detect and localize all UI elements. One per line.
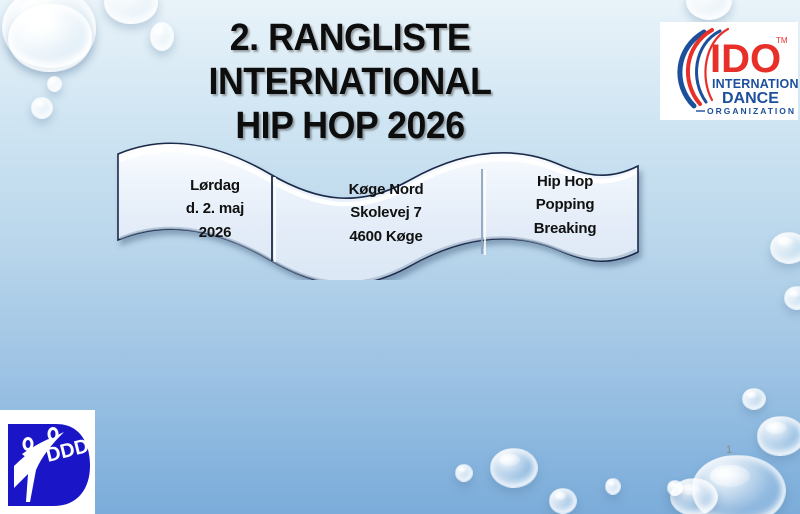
info-ribbon-banner: Lørdag d. 2. maj 2026 Køge Nord Skolevej… xyxy=(110,140,655,280)
presentation-slide: 2. RANGLISTE INTERNATIONAL HIP HOP 2026 xyxy=(0,0,800,514)
ribbon-panel-disciplines: Hip Hop Popping Breaking xyxy=(490,170,640,240)
water-droplet xyxy=(784,286,800,310)
ido-line-dance: DANCE xyxy=(722,90,779,107)
water-droplet xyxy=(770,232,800,264)
ribbon-date-line-3: 2026 xyxy=(140,221,290,244)
ribbon-discipline-line-2: Popping xyxy=(490,193,640,216)
ribbon-venue-line-3: 4600 Køge xyxy=(306,225,466,248)
ribbon-venue-line-2: Skolevej 7 xyxy=(306,201,466,224)
water-droplet xyxy=(686,0,732,20)
ribbon-discipline-line-1: Hip Hop xyxy=(490,170,640,193)
water-droplet xyxy=(31,97,53,119)
water-droplet xyxy=(490,448,538,488)
water-droplet xyxy=(549,488,577,514)
water-droplet xyxy=(667,480,683,496)
water-droplet xyxy=(692,455,786,514)
ido-logo: IDO TM INTERNATIONAL DANCE ORGANIZATION xyxy=(660,22,798,120)
ido-line-international: INTERNATIONAL xyxy=(712,77,798,91)
ribbon-panel-venue: Køge Nord Skolevej 7 4600 Køge xyxy=(306,178,466,248)
ddd-logo-graphic: DDD xyxy=(0,410,95,514)
ido-trademark-icon: TM xyxy=(776,36,788,45)
ribbon-panel-date: Lørdag d. 2. maj 2026 xyxy=(140,174,290,244)
water-droplet xyxy=(670,478,718,514)
page-number: 1 xyxy=(726,444,732,456)
ribbon-date-line-1: Lørdag xyxy=(140,174,290,197)
page-title: 2. RANGLISTE INTERNATIONAL HIP HOP 2026 xyxy=(59,16,642,148)
ribbon-discipline-line-3: Breaking xyxy=(490,217,640,240)
ido-logo-graphic: IDO TM INTERNATIONAL DANCE ORGANIZATION xyxy=(660,22,798,120)
ddd-logo: DDD xyxy=(0,410,95,514)
ribbon-venue-line-1: Køge Nord xyxy=(306,178,466,201)
ribbon-date-line-2: d. 2. maj xyxy=(140,197,290,220)
ido-line-organization: ORGANIZATION xyxy=(707,106,796,116)
ido-acronym: IDO xyxy=(710,37,781,81)
title-line-2: INTERNATIONAL xyxy=(59,60,642,104)
water-droplet xyxy=(742,388,766,410)
water-droplet xyxy=(605,478,621,495)
water-droplet xyxy=(757,416,800,456)
water-droplet xyxy=(455,464,473,482)
title-line-1: 2. RANGLISTE xyxy=(59,16,642,60)
